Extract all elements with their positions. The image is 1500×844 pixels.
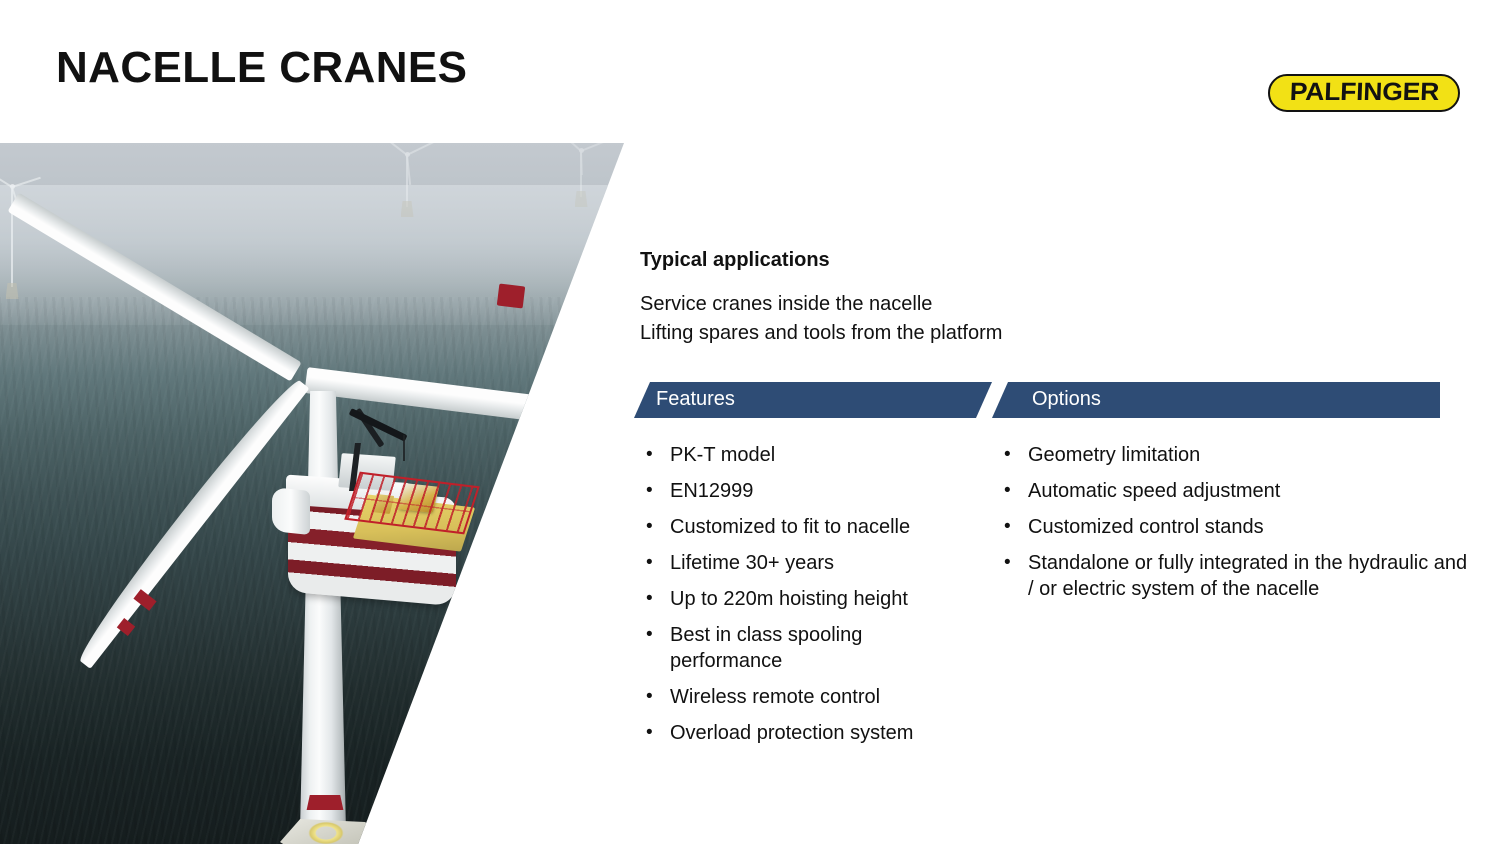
applications-heading: Typical applications [640, 249, 830, 272]
logo-wordmark: PALFINGER [1289, 80, 1439, 106]
applications-lines: Service cranes inside the nacelle Liftin… [640, 290, 1002, 348]
distant-base [401, 201, 414, 217]
list-item: Lifetime 30+ years [640, 550, 970, 576]
options-list: Geometry limitation Automatic speed adju… [998, 442, 1468, 612]
features-header-bar: Features [634, 382, 992, 418]
palfinger-logo: PALFINGER [1268, 74, 1460, 112]
foundation-yellow-ring [304, 819, 348, 844]
nacelle-rotor-hub [272, 487, 310, 535]
options-header-bar: Options [992, 382, 1440, 418]
slide-canvas: NACELLE CRANES PALFINGER [0, 0, 1500, 844]
turbine-blade-right-tip [497, 283, 525, 308]
nacelle-crane-hoist-line [403, 435, 405, 461]
tower-red-band [305, 795, 345, 810]
list-item: Up to 220m hoisting height [640, 586, 970, 612]
list-item: Customized to fit to nacelle [640, 514, 970, 540]
distant-base [575, 191, 588, 207]
list-item: Wireless remote control [640, 684, 970, 710]
list-item: Geometry limitation [998, 442, 1468, 468]
list-item: EN12999 [640, 478, 970, 504]
distant-turbine-right [566, 143, 596, 205]
options-header-label: Options [1032, 389, 1101, 411]
list-item: Customized control stands [998, 514, 1468, 540]
list-item: Overload protection system [640, 720, 970, 746]
applications-line-1: Service cranes inside the nacelle [640, 290, 1002, 319]
features-header-label: Features [656, 389, 735, 411]
content-area: Typical applications Service cranes insi… [640, 143, 1470, 844]
features-list: PK-T model EN12999 Customized to fit to … [640, 442, 970, 756]
turbine-photo [0, 143, 624, 844]
list-item: PK-T model [640, 442, 970, 468]
applications-line-2: Lifting spares and tools from the platfo… [640, 319, 1002, 348]
distant-tower [406, 155, 409, 207]
list-item: Standalone or fully integrated in the hy… [998, 550, 1468, 602]
distant-turbine-mid [390, 143, 424, 215]
list-item: Best in class spooling performance [640, 622, 970, 674]
list-item: Automatic speed adjustment [998, 478, 1468, 504]
distant-base [6, 283, 19, 299]
page-title: NACELLE CRANES [56, 44, 467, 92]
distant-tower [580, 151, 583, 197]
